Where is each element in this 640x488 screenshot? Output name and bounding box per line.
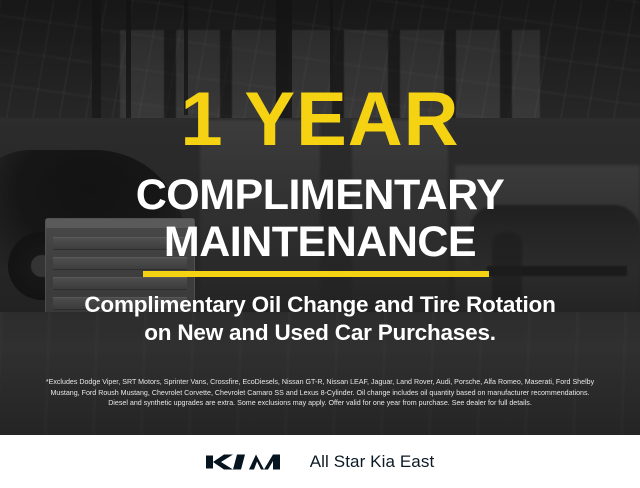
disclaimer-text: *Excludes Dodge Viper, SRT Motors, Sprin… [14, 377, 626, 409]
headline-secondary-line2: MAINTENANCE [0, 221, 640, 264]
disclaimer-line-3: Diesel and synthetic upgrades are extra.… [14, 398, 626, 409]
footer-bar: All Star Kia East [0, 435, 640, 488]
promo-banner: 1 YEAR COMPLIMENTARY MAINTENANCE Complim… [0, 0, 640, 488]
dealer-name: All Star Kia East [310, 452, 435, 472]
subheadline-line1: Complimentary Oil Change and Tire Rotati… [18, 291, 622, 319]
subheadline: Complimentary Oil Change and Tire Rotati… [18, 291, 622, 347]
kia-logo-icon [206, 451, 288, 473]
headline-primary: 1 YEAR [0, 82, 640, 158]
disclaimer-line-2: Mustang, Ford Roush Mustang, Chevrolet C… [14, 388, 626, 399]
disclaimer-line-1: *Excludes Dodge Viper, SRT Motors, Sprin… [14, 377, 626, 388]
subheadline-line2: on New and Used Car Purchases. [18, 319, 622, 347]
banner-content: 1 YEAR COMPLIMENTARY MAINTENANCE Complim… [0, 0, 640, 435]
headline-secondary-line1: COMPLIMENTARY [0, 174, 640, 217]
yellow-divider-rule [143, 271, 489, 277]
